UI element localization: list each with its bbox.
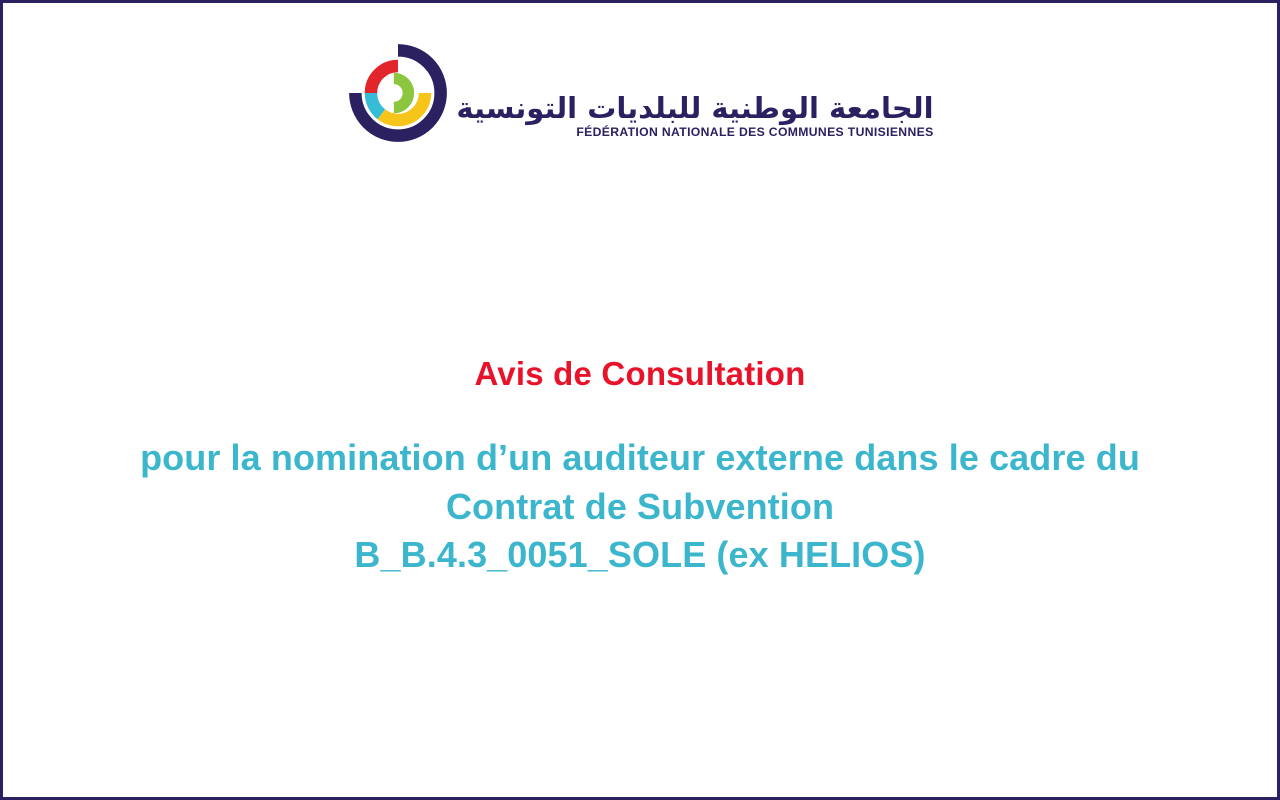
logo-arabic-text: الجامعة الوطنية للبلديات التونسية [456, 93, 933, 124]
fnct-logo-mark-icon [346, 41, 450, 145]
notice-block: Avis de Consultation pour la nomination … [43, 355, 1237, 580]
notice-subtitle-line-2: Contrat de Subvention [43, 483, 1237, 532]
document-page: الجامعة الوطنية للبلديات التونسية FÉDÉRA… [0, 0, 1280, 800]
notice-title: Avis de Consultation [43, 355, 1237, 394]
page-content-area: الجامعة الوطنية للبلديات التونسية FÉDÉRA… [3, 3, 1277, 797]
fnct-logo-lockup: الجامعة الوطنية للبلديات التونسية FÉDÉRA… [346, 41, 933, 145]
notice-subtitle-line-3: B_B.4.3_0051_SOLE (ex HELIOS) [43, 531, 1237, 580]
notice-subtitle-line-1: pour la nomination d’un auditeur externe… [43, 434, 1237, 483]
logo-latin-text: FÉDÉRATION NATIONALE DES COMMUNES TUNISI… [576, 125, 933, 139]
notice-subtitle: pour la nomination d’un auditeur externe… [43, 394, 1237, 580]
logo-wordmark: الجامعة الوطنية للبلديات التونسية FÉDÉRA… [456, 93, 933, 145]
header-logo-block: الجامعة الوطنية للبلديات التونسية FÉDÉRA… [3, 41, 1277, 145]
